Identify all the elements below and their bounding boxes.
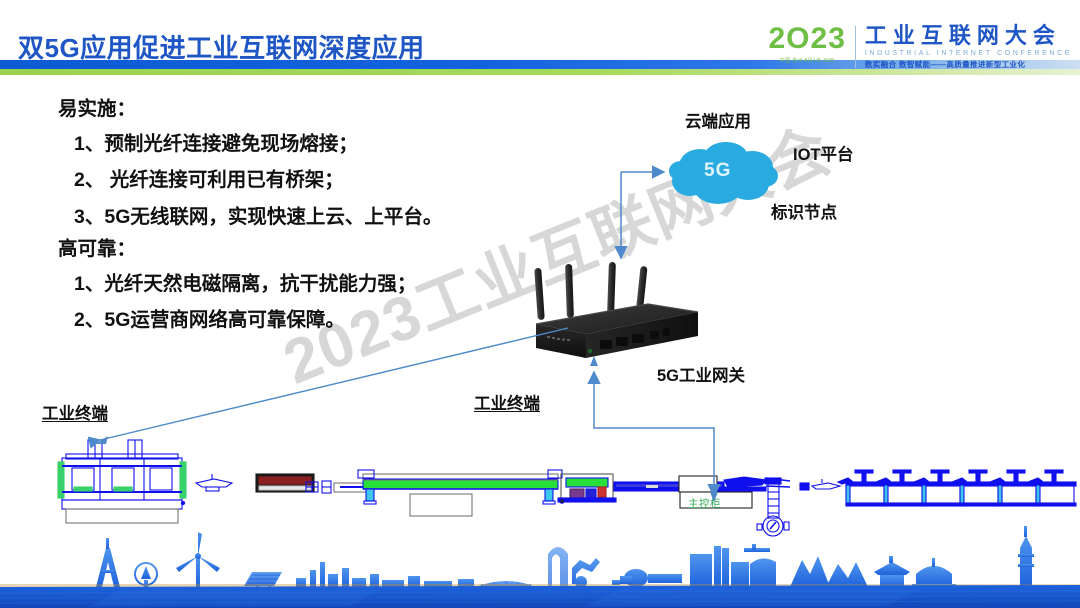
terminal-label-left: 工业终端 [42, 400, 108, 424]
machine-dark-block [256, 474, 314, 492]
machine-table-row [838, 470, 1076, 506]
bottom-skyline-band [0, 518, 1080, 608]
machine-small-part [196, 474, 232, 491]
slide-canvas: 2023工业互联网大会 双5G应用促进工业互联网深度应用 2O23 中国·苏州 … [0, 0, 1080, 608]
machine-small-fittings [800, 479, 840, 490]
main-control-cabinet-label: 主控柜 [688, 496, 721, 511]
machine-conveyor [306, 470, 616, 516]
terminal-label-mid: 工业终端 [474, 390, 540, 414]
factory-line-illustration [0, 0, 1080, 608]
skyline-silhouette [96, 526, 1034, 590]
machine-left [58, 440, 186, 523]
gateway-label: 5G工业网关 [657, 362, 745, 386]
